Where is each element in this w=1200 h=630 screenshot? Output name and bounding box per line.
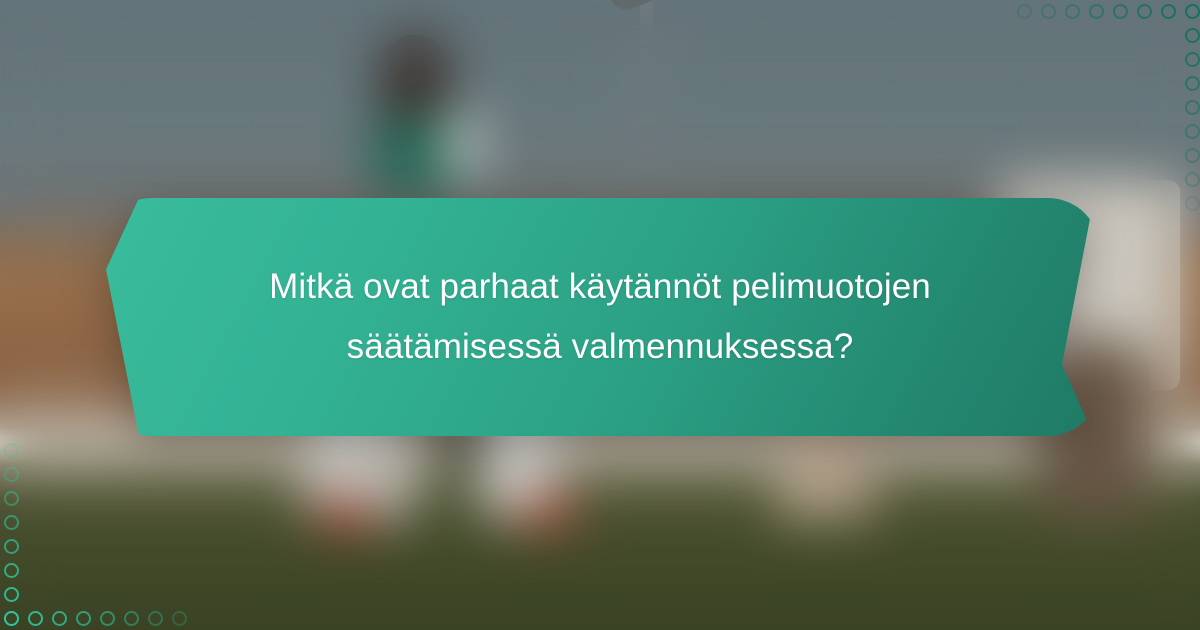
decor-dot bbox=[124, 611, 139, 626]
decor-dot bbox=[4, 491, 19, 506]
decor-dot bbox=[4, 443, 19, 458]
decor-dot bbox=[4, 467, 19, 482]
decor-dot bbox=[4, 515, 19, 530]
decor-dot bbox=[1185, 76, 1200, 91]
decor-dot bbox=[4, 611, 19, 626]
decor-dot bbox=[1185, 196, 1200, 211]
decor-dot bbox=[76, 611, 91, 626]
question-card-content: Mitkä ovat parhaat käytännöt pelimuotoje… bbox=[100, 198, 1100, 436]
decor-dot bbox=[1041, 4, 1056, 19]
decor-dot bbox=[148, 611, 163, 626]
decor-dot bbox=[1185, 4, 1200, 19]
question-text: Mitkä ovat parhaat käytännöt pelimuotoje… bbox=[220, 257, 980, 377]
decor-dot bbox=[1065, 4, 1080, 19]
social-card-canvas: Mitkä ovat parhaat käytännöt pelimuotoje… bbox=[0, 0, 1200, 630]
decor-dot bbox=[1089, 4, 1104, 19]
decor-dot bbox=[1185, 100, 1200, 115]
decor-dot bbox=[52, 611, 67, 626]
decor-dot bbox=[1113, 4, 1128, 19]
decor-dot bbox=[1185, 52, 1200, 67]
decor-dot bbox=[100, 611, 115, 626]
decor-dot bbox=[1185, 124, 1200, 139]
decor-dot bbox=[4, 563, 19, 578]
decor-dot bbox=[172, 611, 187, 626]
decor-dot bbox=[1185, 172, 1200, 187]
decor-dot bbox=[1161, 4, 1176, 19]
decor-dot bbox=[28, 611, 43, 626]
decor-dot bbox=[1185, 148, 1200, 163]
decor-dot bbox=[1017, 4, 1032, 19]
decor-dot bbox=[1185, 28, 1200, 43]
decor-dot bbox=[1137, 4, 1152, 19]
question-card: Mitkä ovat parhaat käytännöt pelimuotoje… bbox=[100, 198, 1100, 436]
decor-dot bbox=[4, 539, 19, 554]
decor-dot bbox=[4, 587, 19, 602]
